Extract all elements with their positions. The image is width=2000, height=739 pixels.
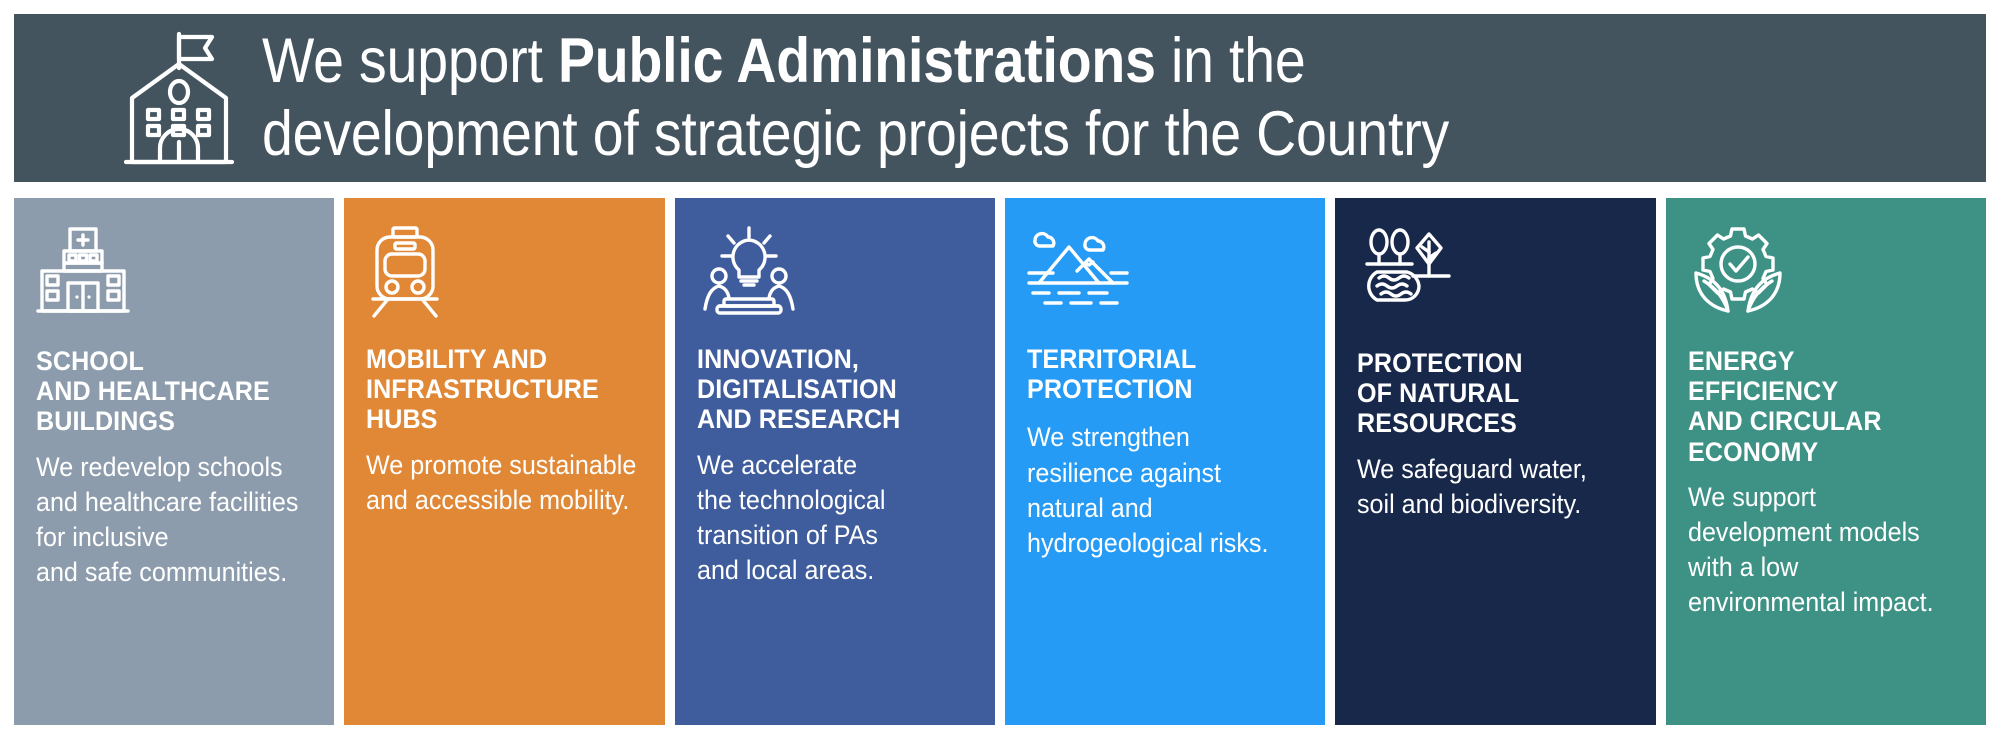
card-title-line: EFFICIENCY (1688, 376, 1945, 406)
card-body-line: and healthcare facilities (36, 485, 293, 520)
header-title-line-2: development of strategic projects for th… (262, 98, 1747, 171)
card-title-line: ECONOMY (1688, 437, 1945, 467)
card-title-line: DIGITALISATION (697, 374, 954, 404)
card-title-line: OF NATURAL (1357, 378, 1614, 408)
header-title-suffix: in the (1156, 26, 1306, 96)
card-title-line: PROTECTION (1357, 348, 1614, 378)
card-body-line: We safeguard water, (1357, 452, 1614, 487)
lake-trees-icon (1357, 226, 1633, 322)
card-body-line: We support (1688, 480, 1945, 515)
card-territorial-protection[interactable]: TERRITORIAL PROTECTION We strengthen res… (1005, 198, 1325, 725)
card-title: ENERGY EFFICIENCY AND CIRCULAR ECONOMY (1688, 346, 1945, 467)
card-title-line: SCHOOL (36, 346, 293, 376)
card-title-line: AND CIRCULAR (1688, 406, 1945, 436)
card-body-line: for inclusive (36, 520, 293, 555)
card-title-line: AND RESEARCH (697, 404, 954, 434)
header-title-prefix: We support (262, 26, 558, 96)
school-building-flag-icon (104, 23, 254, 173)
header-title-line-1: We support Public Administrations in the (262, 25, 1747, 98)
card-body-line: and accessible mobility. (366, 483, 623, 518)
card-body-line: with a low (1688, 550, 1945, 585)
hospital-building-icon (36, 226, 312, 322)
card-title-line: ENERGY (1688, 346, 1945, 376)
pillar-card-row: SCHOOL AND HEALTHCARE BUILDINGS We redev… (14, 198, 1986, 725)
card-body-line: development models (1688, 515, 1945, 550)
card-body-line: We accelerate (697, 448, 954, 483)
card-body-line: We promote sustainable (366, 448, 623, 483)
card-body-line: transition of PAs (697, 518, 954, 553)
gear-check-leaves-icon (1688, 226, 1964, 322)
card-body-line: natural and (1027, 491, 1284, 526)
card-body: We redevelop schools and healthcare faci… (36, 450, 293, 590)
card-title: TERRITORIAL PROTECTION (1027, 344, 1284, 404)
card-body: We promote sustainable and accessible mo… (366, 448, 623, 518)
card-innovation-digitalisation-and-research[interactable]: INNOVATION, DIGITALISATION AND RESEARCH … (675, 198, 995, 725)
card-body: We support development models with a low… (1688, 480, 1945, 620)
card-title: SCHOOL AND HEALTHCARE BUILDINGS (36, 346, 293, 437)
card-body-line: and local areas. (697, 553, 954, 588)
card-energy-efficiency-and-circular-economy[interactable]: ENERGY EFFICIENCY AND CIRCULAR ECONOMY W… (1666, 198, 1986, 725)
card-body: We safeguard water, soil and biodiversit… (1357, 452, 1614, 522)
card-title-line: HUBS (366, 404, 623, 434)
card-title: INNOVATION, DIGITALISATION AND RESEARCH (697, 344, 954, 435)
card-title-line: MOBILITY AND (366, 344, 623, 374)
card-title-line: INNOVATION, (697, 344, 954, 374)
card-body-line: the technological (697, 483, 954, 518)
train-tram-icon (366, 226, 642, 322)
card-title-line: INFRASTRUCTURE (366, 374, 623, 404)
card-title: MOBILITY AND INFRASTRUCTURE HUBS (366, 344, 623, 435)
header-title: We support Public Administrations in the… (262, 25, 1779, 171)
card-title-line: PROTECTION (1027, 374, 1284, 404)
card-body: We strengthen resilience against natural… (1027, 420, 1284, 560)
header-title-highlight: Public Administrations (558, 26, 1156, 96)
card-body-line: hydrogeological risks. (1027, 526, 1284, 561)
card-body-line: environmental impact. (1688, 585, 1945, 620)
card-protection-of-natural-resources[interactable]: PROTECTION OF NATURAL RESOURCES We safeg… (1335, 198, 1655, 725)
infographic-root: We support Public Administrations in the… (0, 0, 2000, 739)
card-body-line: soil and biodiversity. (1357, 487, 1614, 522)
card-title-line: RESOURCES (1357, 408, 1614, 438)
card-body-line: We redevelop schools (36, 450, 293, 485)
card-school-and-healthcare-buildings[interactable]: SCHOOL AND HEALTHCARE BUILDINGS We redev… (14, 198, 334, 725)
card-body-line: We strengthen (1027, 420, 1284, 455)
card-body-line: resilience against (1027, 456, 1284, 491)
card-body-line: and safe communities. (36, 555, 293, 590)
header-banner: We support Public Administrations in the… (14, 14, 1986, 182)
card-title-line: BUILDINGS (36, 406, 293, 436)
card-body: We accelerate the technological transiti… (697, 448, 954, 588)
card-title-line: TERRITORIAL (1027, 344, 1284, 374)
mountains-clouds-water-icon (1027, 226, 1303, 322)
card-mobility-and-infrastructure-hubs[interactable]: MOBILITY AND INFRASTRUCTURE HUBS We prom… (344, 198, 664, 725)
card-title-line: AND HEALTHCARE (36, 376, 293, 406)
card-title: PROTECTION OF NATURAL RESOURCES (1357, 348, 1614, 439)
lightbulb-teamwork-icon (697, 226, 973, 322)
